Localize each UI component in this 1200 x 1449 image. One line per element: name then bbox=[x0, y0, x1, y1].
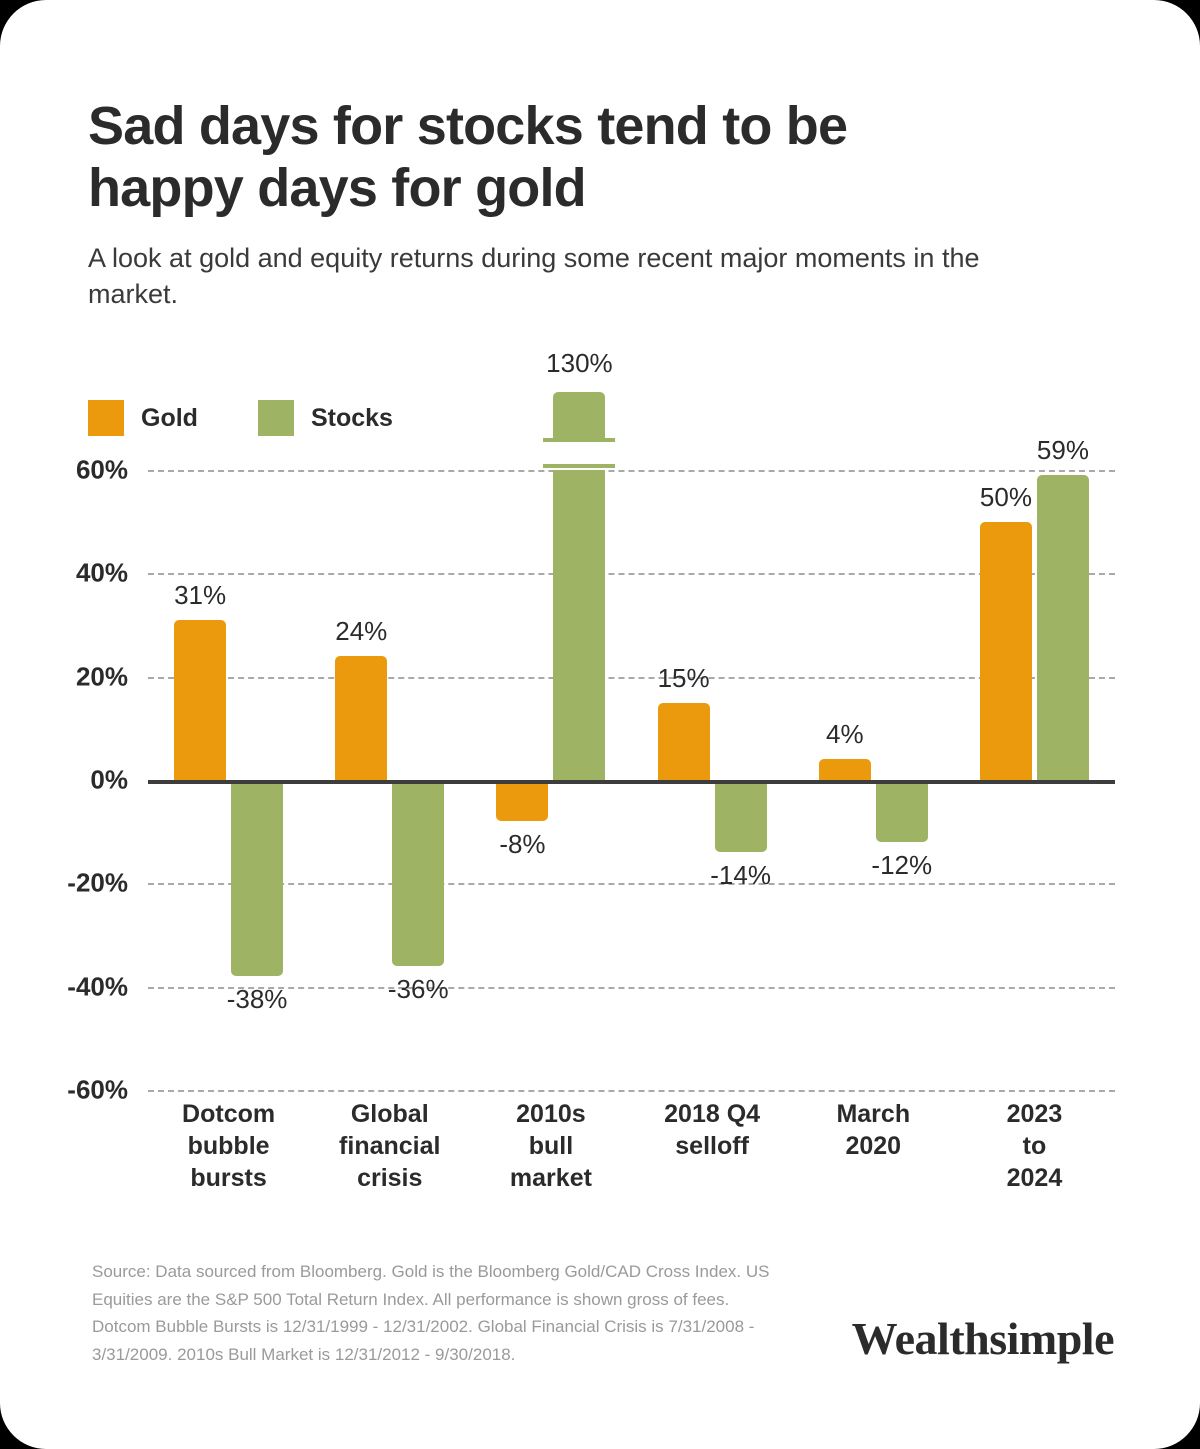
bar-gold bbox=[980, 522, 1032, 780]
chart-card: Sad days for stocks tend to be happy day… bbox=[0, 0, 1200, 1449]
x-axis-labels: Dotcom bubble burstsGlobal financial cri… bbox=[148, 1098, 1115, 1194]
x-axis-category-label: 2010s bull market bbox=[470, 1098, 631, 1194]
bar-stocks bbox=[715, 780, 767, 852]
bar-stocks bbox=[231, 780, 283, 976]
source-note: Source: Data sourced from Bloomberg. Gol… bbox=[92, 1258, 772, 1368]
x-axis-category-label: 2018 Q4 selloff bbox=[632, 1098, 793, 1194]
y-axis-tick-label: 60% bbox=[8, 455, 128, 486]
x-axis-category-label: 2023 to 2024 bbox=[954, 1098, 1115, 1194]
page-title: Sad days for stocks tend to be happy day… bbox=[88, 95, 988, 219]
legend-item-stocks: Stocks bbox=[258, 400, 393, 436]
bar-value-label: 31% bbox=[120, 580, 280, 611]
y-axis-tick-label: 40% bbox=[8, 558, 128, 589]
gridline bbox=[148, 1090, 1115, 1092]
chart-legend: Gold Stocks bbox=[88, 400, 393, 436]
y-axis-tick-label: -20% bbox=[8, 868, 128, 899]
bar-stocks bbox=[876, 780, 928, 842]
bar-gold bbox=[819, 759, 871, 780]
axis-break-line-upper bbox=[543, 438, 615, 442]
y-axis-tick-label: -60% bbox=[8, 1075, 128, 1106]
bar-value-label: 24% bbox=[281, 616, 441, 647]
legend-swatch-stocks-icon bbox=[258, 400, 294, 436]
legend-label-stocks: Stocks bbox=[311, 404, 393, 433]
bar-value-label: -8% bbox=[442, 829, 602, 860]
bar-value-label: -14% bbox=[661, 860, 821, 891]
bar-gold bbox=[174, 620, 226, 780]
y-axis-tick-label: 20% bbox=[8, 661, 128, 692]
bar-value-label: 130% bbox=[499, 348, 659, 379]
wealthsimple-logo: Wealthsimple bbox=[852, 1312, 1114, 1365]
legend-item-gold: Gold bbox=[88, 400, 198, 436]
bar-value-label: 4% bbox=[765, 719, 925, 750]
bar-stocks bbox=[1037, 475, 1089, 780]
zero-axis-line bbox=[148, 780, 1115, 784]
bar-gold bbox=[335, 656, 387, 780]
bar-value-label: 50% bbox=[926, 482, 1086, 513]
axis-break-line-lower bbox=[543, 464, 615, 468]
page-subtitle: A look at gold and equity returns during… bbox=[88, 241, 988, 312]
legend-label-gold: Gold bbox=[141, 404, 198, 433]
bar-value-label: -38% bbox=[177, 984, 337, 1015]
x-axis-category-label: March 2020 bbox=[793, 1098, 954, 1194]
x-axis-category-label: Dotcom bubble bursts bbox=[148, 1098, 309, 1194]
x-axis-category-label: Global financial crisis bbox=[309, 1098, 470, 1194]
chart-header: Sad days for stocks tend to be happy day… bbox=[88, 95, 1088, 312]
bar-value-label: 15% bbox=[604, 663, 764, 694]
y-axis-tick-label: 0% bbox=[8, 765, 128, 796]
bar-stocks bbox=[553, 470, 605, 780]
y-axis-tick-label: -40% bbox=[8, 971, 128, 1002]
bar-chart: 60%40%20%0%-20%-40%-60% 31%-38%24%-36%-8… bbox=[0, 470, 1200, 1110]
bar-value-label: -12% bbox=[822, 850, 982, 881]
bar-value-label: 59% bbox=[983, 435, 1143, 466]
bar-stocks bbox=[392, 780, 444, 966]
bar-value-label: -36% bbox=[338, 974, 498, 1005]
legend-swatch-gold-icon bbox=[88, 400, 124, 436]
bar-gold bbox=[496, 780, 548, 821]
bar-gold bbox=[658, 703, 710, 781]
axis-break-bar-cap bbox=[553, 392, 605, 438]
